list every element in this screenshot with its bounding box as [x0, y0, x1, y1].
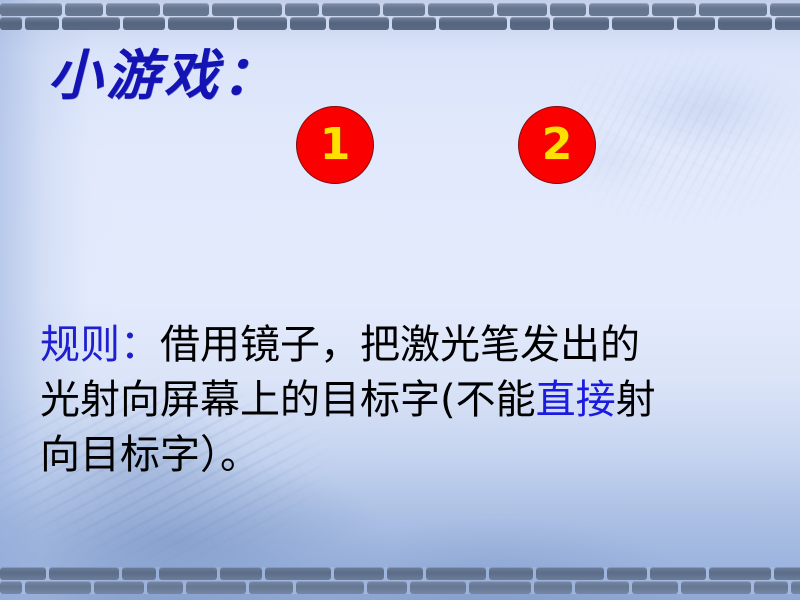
- brick: [106, 3, 160, 16]
- brick-row-lower: [0, 581, 800, 594]
- brick: [770, 3, 800, 16]
- rules-line-3: 向目标字）。: [40, 428, 770, 483]
- brick: [265, 567, 331, 580]
- target-circle-2-label: 2: [542, 123, 573, 167]
- rules-line-2-post: 射: [616, 377, 656, 423]
- brick: [65, 3, 103, 16]
- brick: [329, 17, 389, 30]
- brick: [410, 581, 466, 594]
- brick: [550, 3, 586, 16]
- brick: [718, 17, 772, 30]
- brick: [0, 567, 46, 580]
- brick: [652, 3, 696, 16]
- brick: [296, 581, 364, 594]
- brick: [0, 581, 22, 594]
- brick: [285, 3, 319, 16]
- brick: [677, 17, 715, 30]
- brick: [0, 3, 62, 16]
- brick: [387, 567, 423, 580]
- brick-row-upper: [0, 567, 800, 580]
- rules-text-block: 规则：借用镜子，把激光笔发出的 光射向屏幕上的目标字(不能直接射 向目标字）。: [40, 318, 770, 484]
- brick: [122, 567, 156, 580]
- brick: [754, 581, 788, 594]
- brick: [383, 3, 425, 16]
- brick: [322, 3, 380, 16]
- target-circle-2[interactable]: 2: [518, 106, 596, 184]
- brick: [612, 17, 674, 30]
- brick: [94, 581, 144, 594]
- brick: [237, 17, 287, 30]
- brick: [510, 17, 550, 30]
- brick: [536, 567, 604, 580]
- brick: [249, 581, 293, 594]
- brick: [428, 3, 494, 16]
- brick: [791, 581, 800, 594]
- brick: [774, 567, 800, 580]
- rules-line-1-text: 借用镜子，把激光笔发出的: [160, 322, 640, 368]
- brick: [186, 581, 246, 594]
- rules-line-2: 光射向屏幕上的目标字(不能直接射: [40, 373, 770, 428]
- target-circle-1[interactable]: 1: [296, 106, 374, 184]
- brick: [159, 567, 217, 580]
- brick: [0, 17, 22, 30]
- rules-line-1: 规则：借用镜子，把激光笔发出的: [40, 318, 770, 373]
- brick: [163, 3, 209, 16]
- brick: [367, 581, 407, 594]
- brick: [212, 3, 282, 16]
- brick: [681, 581, 751, 594]
- brick: [607, 567, 647, 580]
- brick: [25, 581, 91, 594]
- brick: [123, 17, 165, 30]
- brick: [489, 567, 533, 580]
- brick: [632, 581, 678, 594]
- brick: [469, 581, 531, 594]
- brick: [62, 17, 120, 30]
- brick: [220, 567, 262, 580]
- brick: [699, 3, 767, 16]
- slide-title: 小游戏：: [48, 48, 280, 102]
- brick: [650, 567, 706, 580]
- brick: [709, 567, 771, 580]
- brick: [290, 17, 326, 30]
- brick-row-upper: [0, 3, 800, 16]
- brick: [147, 581, 183, 594]
- brick: [426, 567, 486, 580]
- brick: [775, 17, 800, 30]
- brick-border-top: [0, 3, 800, 30]
- brick: [553, 17, 609, 30]
- rules-line-2-pre: 光射向屏幕上的目标字(不能: [40, 377, 536, 423]
- brick: [439, 17, 507, 30]
- brick: [575, 581, 629, 594]
- rules-label: 规则：: [40, 322, 160, 368]
- brick: [534, 581, 572, 594]
- brick: [168, 17, 234, 30]
- brick-row-lower: [0, 17, 800, 30]
- rules-highlight-direct: 直接: [536, 377, 616, 423]
- brick: [25, 17, 59, 30]
- brick-border-bottom: [0, 567, 800, 594]
- brick: [392, 17, 436, 30]
- target-circle-1-label: 1: [320, 123, 351, 167]
- brick: [49, 567, 119, 580]
- presentation-slide: 小游戏： 1 2 规则：借用镜子，把激光笔发出的 光射向屏幕上的目标字(不能直接…: [0, 0, 800, 600]
- brick: [334, 567, 384, 580]
- brick: [589, 3, 649, 16]
- brick: [497, 3, 547, 16]
